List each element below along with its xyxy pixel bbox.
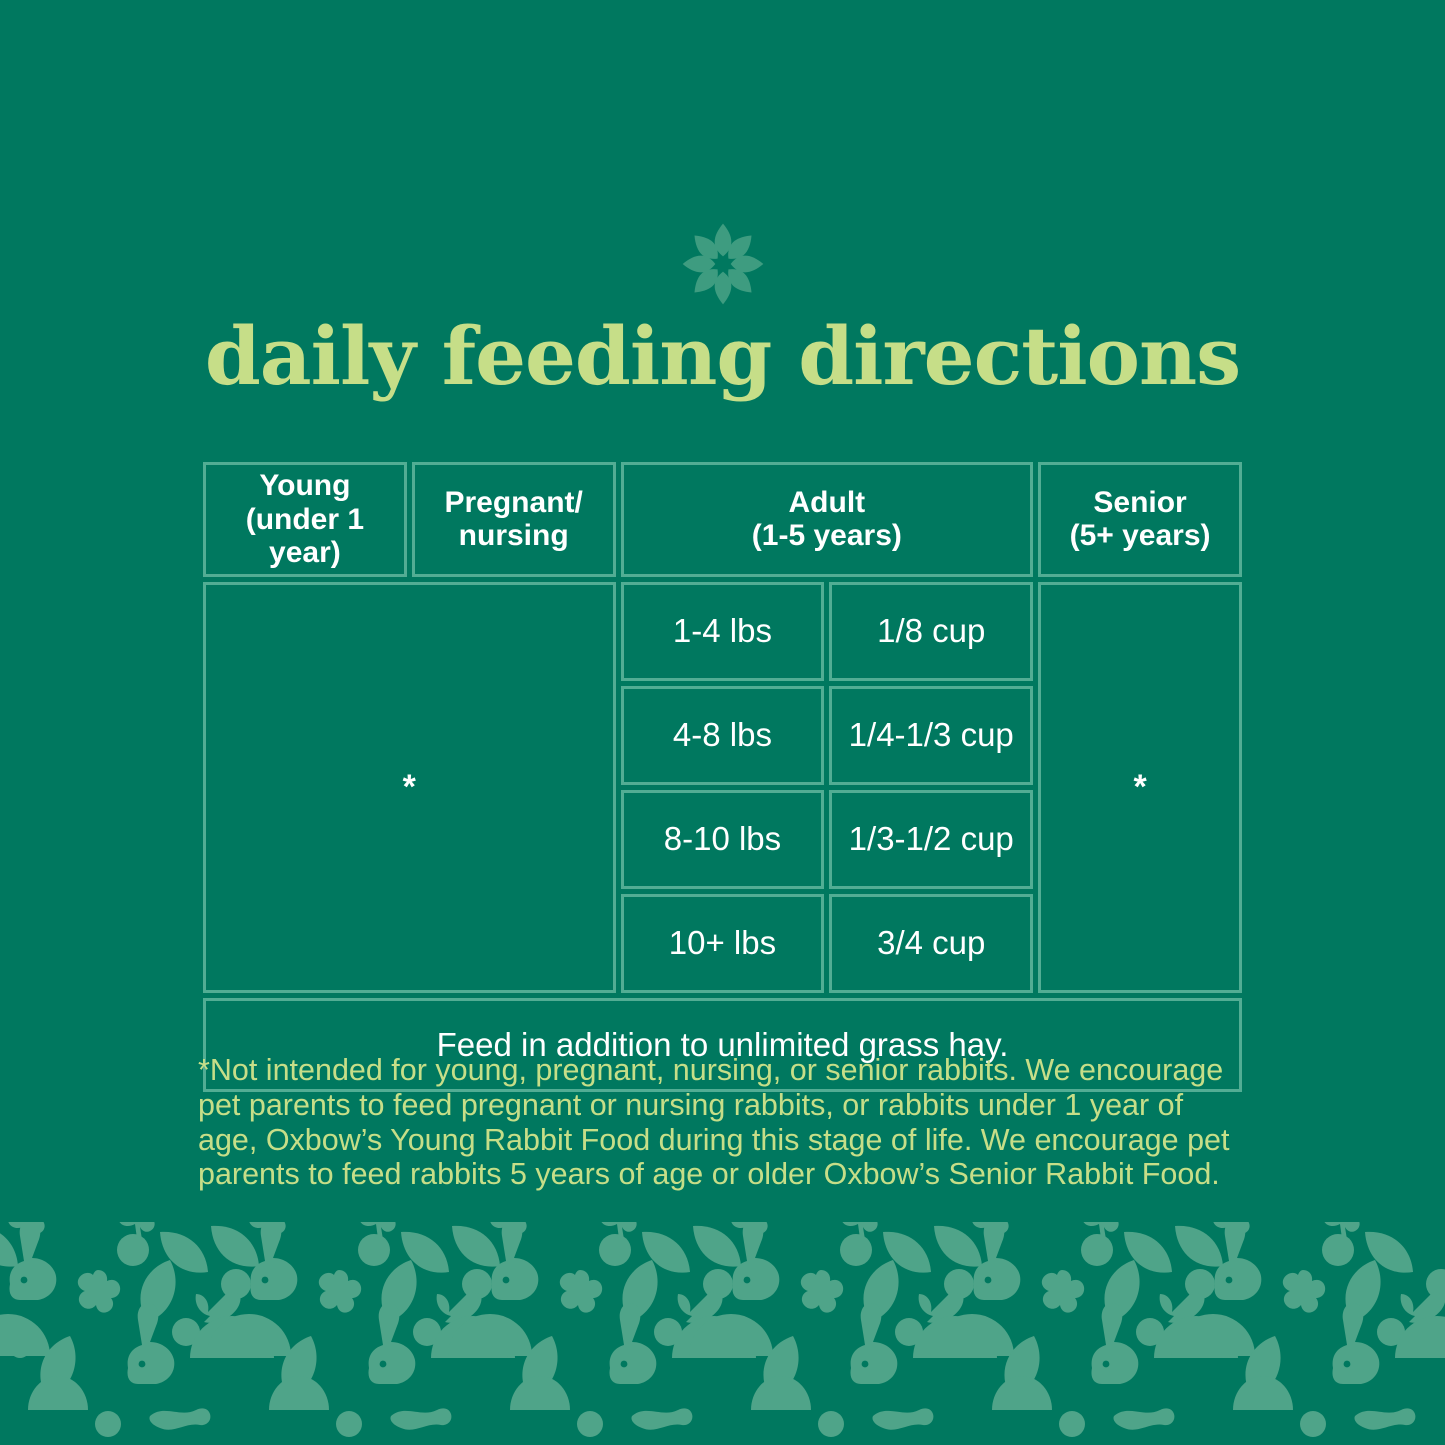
column-header-pregnant-line1: Pregnant/ <box>444 486 582 519</box>
table-row: * 1-4 lbs 1/8 cup * <box>203 582 1242 681</box>
adult-weight-2: 4-8 lbs <box>621 686 825 785</box>
disclaimer-text: *Not intended for young, pregnant, nursi… <box>198 1053 1250 1192</box>
adult-amount-4: 3/4 cup <box>829 894 1033 993</box>
table-header-row: Young (under 1 year) Pregnant/ nursing A… <box>203 462 1242 577</box>
column-header-senior-line2: (5+ years) <box>1047 519 1233 553</box>
adult-amount-3: 1/3-1/2 cup <box>829 790 1033 889</box>
rosette-flower-icon <box>675 216 771 312</box>
adult-weight-4: 10+ lbs <box>621 894 825 993</box>
senior-value-cell: * <box>1038 582 1242 993</box>
column-header-adult-line1: Adult <box>789 486 866 519</box>
decorative-pattern-band <box>0 1222 1445 1445</box>
feeding-directions-panel: ADULT RABBIT FOOD daily feeding directio… <box>0 0 1445 1445</box>
column-header-young-line2: (under 1 year) <box>212 503 398 570</box>
adult-amount-1: 1/8 cup <box>829 582 1033 681</box>
column-header-adult-line2: (1-5 years) <box>630 519 1025 553</box>
young-pregnant-value-cell: * <box>203 582 616 993</box>
adult-weight-3: 8-10 lbs <box>621 790 825 889</box>
column-header-young: Young (under 1 year) <box>203 462 407 577</box>
feeding-table-container: Young (under 1 year) Pregnant/ nursing A… <box>198 457 1247 1097</box>
column-header-young-line1: Young <box>259 469 350 502</box>
column-header-senior-line1: Senior <box>1093 486 1186 519</box>
column-header-adult: Adult (1-5 years) <box>621 462 1034 577</box>
page-title: daily feeding directions <box>0 316 1445 396</box>
column-header-senior: Senior (5+ years) <box>1038 462 1242 577</box>
adult-amount-2: 1/4-1/3 cup <box>829 686 1033 785</box>
column-header-pregnant-line2: nursing <box>421 519 607 553</box>
feeding-table: Young (under 1 year) Pregnant/ nursing A… <box>198 457 1247 1097</box>
adult-weight-1: 1-4 lbs <box>621 582 825 681</box>
column-header-pregnant: Pregnant/ nursing <box>412 462 616 577</box>
